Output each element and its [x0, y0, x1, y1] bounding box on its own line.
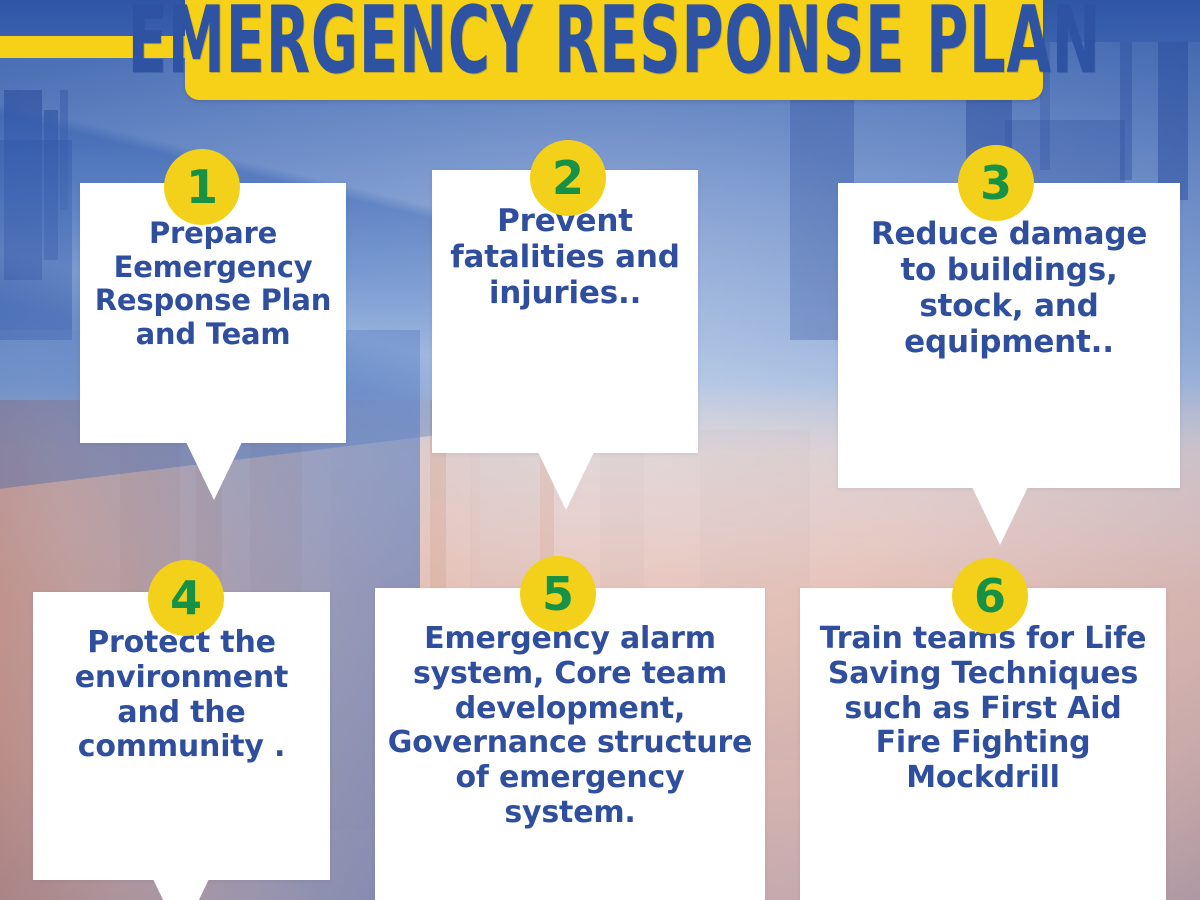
step-card-2-text: Prevent fatalities and injuries.. [444, 204, 686, 312]
step-card-6-text: Train teams for Life Saving Techniques s… [812, 622, 1154, 796]
step-card-3[interactable]: Reduce damage to buildings, stock, and e… [838, 183, 1180, 488]
poster-title: EMERGENCY RESPONSE PLAN [128, 0, 1101, 100]
step-card-3-tail [972, 487, 1028, 545]
step-card-1-tail [186, 442, 242, 500]
step-card-5-text: Emergency alarm system, Core team develo… [387, 622, 753, 831]
step-card-4-text: Protect the environment and the communit… [45, 626, 318, 765]
step-badge-1: 1 [164, 149, 240, 225]
step-badge-4: 4 [148, 560, 224, 636]
infographic-poster: EMERGENCY RESPONSE PLAN Prepare Eemergen… [0, 0, 1200, 900]
step-badge-3: 3 [958, 145, 1034, 221]
step-badge-2: 2 [530, 140, 606, 216]
step-card-2-tail [538, 452, 594, 510]
step-card-3-text: Reduce damage to buildings, stock, and e… [850, 217, 1168, 361]
step-card-4-tail [153, 879, 209, 900]
step-badge-6: 6 [952, 558, 1028, 634]
step-card-6[interactable]: Train teams for Life Saving Techniques s… [800, 588, 1166, 900]
step-card-1-text: Prepare Eemergency Response Plan and Tea… [92, 217, 334, 352]
step-badge-5: 5 [520, 556, 596, 632]
step-card-5[interactable]: Emergency alarm system, Core team develo… [375, 588, 765, 900]
title-banner: EMERGENCY RESPONSE PLAN [185, 0, 1043, 100]
